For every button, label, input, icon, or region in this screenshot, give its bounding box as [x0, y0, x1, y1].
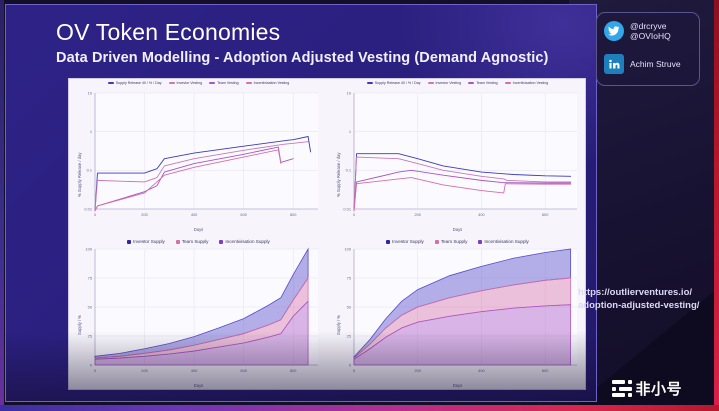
svg-text:600: 600 — [542, 368, 549, 373]
svg-text:100: 100 — [86, 246, 93, 251]
chart-cumulative-supply-demand-agnostic: Investor Supply Team Supply Incentivisat… — [69, 235, 328, 391]
y-axis-label: % Supply Release / day — [336, 153, 341, 197]
svg-text:400: 400 — [478, 368, 485, 373]
svg-text:400: 400 — [191, 368, 198, 373]
x-axis-label: Days — [328, 227, 587, 232]
reference-url-line-2: adoption-adjusted-vesting/ — [578, 299, 716, 312]
svg-text:100: 100 — [345, 246, 352, 251]
svg-text:10: 10 — [347, 90, 352, 95]
linkedin-icon — [604, 54, 624, 74]
charts-panel: Supply Release 40 / % / Day Investor Ves… — [68, 78, 586, 390]
twitter-row: @drcryve @OVIoHQ — [604, 21, 671, 41]
chart-vesting-release-demand-agnostic: Supply Release 40 / % / Day Investor Ves… — [69, 79, 328, 235]
social-handles-card: @drcryve @OVIoHQ Achim Struve — [596, 12, 700, 86]
svg-text:0.1: 0.1 — [87, 168, 92, 173]
chart-cumulative-supply-adoption-adjusted: Investor Supply Team Supply Incentivisat… — [328, 235, 587, 391]
svg-text:200: 200 — [141, 212, 148, 217]
svg-text:50: 50 — [88, 304, 93, 309]
svg-text:0.01: 0.01 — [343, 206, 351, 211]
y-axis-label: Supply / % — [77, 315, 82, 335]
twitter-icon — [604, 21, 624, 41]
svg-text:800: 800 — [290, 212, 297, 217]
svg-text:25: 25 — [347, 333, 351, 338]
svg-text:25: 25 — [88, 333, 92, 338]
x-axis-label: Days — [328, 383, 587, 388]
svg-text:600: 600 — [542, 212, 549, 217]
svg-text:1: 1 — [90, 129, 92, 134]
linkedin-row: Achim Struve — [604, 54, 681, 74]
svg-text:400: 400 — [191, 212, 198, 217]
svg-text:600: 600 — [240, 368, 247, 373]
plot-area: 02004006000.010.1110 — [328, 79, 587, 235]
plot-area: 02004006000255075100 — [328, 235, 587, 391]
svg-text:0: 0 — [94, 368, 97, 373]
svg-text:0: 0 — [94, 212, 97, 217]
svg-text:1: 1 — [349, 129, 351, 134]
watermark-text: 非小号 — [636, 378, 683, 399]
twitter-handle-secondary: @OVIoHQ — [630, 31, 671, 41]
svg-text:0: 0 — [353, 212, 356, 217]
slide-subtitle: Data Driven Modelling - Adoption Adjuste… — [56, 50, 548, 66]
y-axis-label: % Supply Release / day — [77, 153, 82, 197]
reference-url: https://outlierventures.io/ adoption-adj… — [578, 286, 716, 313]
svg-text:0: 0 — [353, 368, 356, 373]
chart-vesting-release-adoption-adjusted: Supply Release 40 / % / Day Investor Ves… — [328, 79, 587, 235]
x-axis-label: Days — [69, 383, 328, 388]
slide-title: OV Token Economies — [56, 19, 280, 46]
watermark-logo-icon — [612, 380, 632, 397]
svg-text:0: 0 — [349, 362, 352, 367]
svg-text:10: 10 — [88, 90, 93, 95]
plot-area: 02004006008000.010.1110 — [69, 79, 328, 235]
svg-text:75: 75 — [347, 275, 351, 280]
twitter-handle-primary: @drcryve — [630, 21, 671, 31]
svg-text:400: 400 — [478, 212, 485, 217]
linkedin-name: Achim Struve — [630, 59, 681, 69]
svg-text:75: 75 — [88, 275, 92, 280]
svg-text:50: 50 — [347, 304, 352, 309]
svg-text:0.1: 0.1 — [346, 168, 351, 173]
twitter-handles: @drcryve @OVIoHQ — [630, 21, 671, 41]
plot-area: 02004006008000255075100 — [69, 235, 328, 391]
right-edge-red-stripe — [714, 0, 719, 411]
svg-text:600: 600 — [240, 212, 247, 217]
left-edge-stripe — [0, 0, 4, 411]
svg-text:200: 200 — [414, 368, 421, 373]
svg-text:200: 200 — [141, 368, 148, 373]
svg-text:0: 0 — [90, 362, 93, 367]
presentation-slide: OV Token Economies Data Driven Modelling… — [5, 4, 597, 402]
reference-url-line-1: https://outlierventures.io/ — [578, 286, 716, 299]
svg-text:800: 800 — [290, 368, 297, 373]
screenshot-stage: OV Token Economies Data Driven Modelling… — [0, 0, 719, 411]
svg-text:0.01: 0.01 — [84, 206, 92, 211]
watermark: 非小号 — [612, 378, 682, 399]
x-axis-label: Days — [69, 227, 328, 232]
bottom-edge-gradient-stripe — [0, 405, 719, 411]
y-axis-label: Supply / % — [336, 315, 341, 335]
svg-text:200: 200 — [414, 212, 421, 217]
